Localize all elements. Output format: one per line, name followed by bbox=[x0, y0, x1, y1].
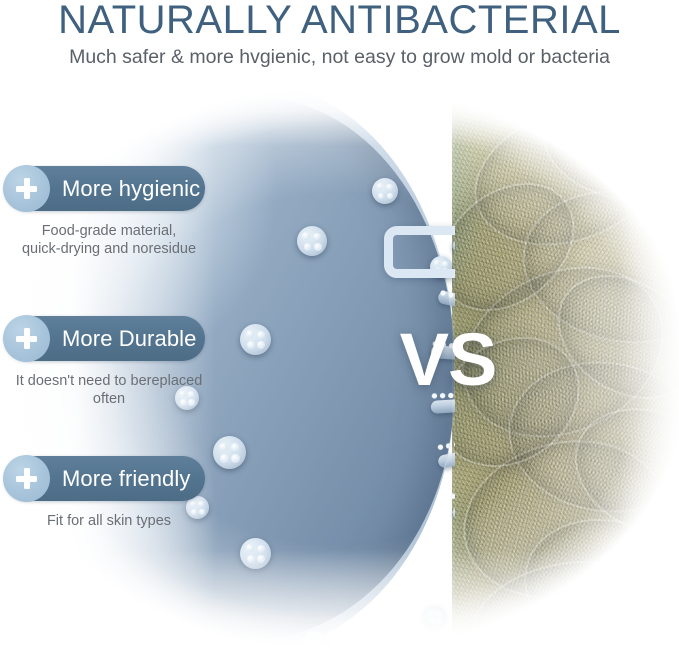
nub-dot bbox=[257, 331, 265, 339]
feature-label: More friendly bbox=[62, 466, 190, 492]
nub-dot bbox=[314, 243, 322, 251]
page-subtitle: Much safer & more hvgienic, not easy to … bbox=[0, 44, 679, 70]
nub-dot bbox=[302, 232, 310, 240]
nub-dot bbox=[231, 454, 240, 463]
product-infographic: NATURALLY ANTIBACTERIAL Much safer & mor… bbox=[0, 0, 679, 660]
feature-badge[interactable]: More friendly bbox=[4, 456, 205, 501]
nub-dot bbox=[378, 193, 385, 200]
feature-item-more-friendly[interactable]: More friendly Fit for all skin types bbox=[0, 456, 230, 530]
stage-fade-right bbox=[619, 78, 679, 660]
plus-glyph bbox=[16, 468, 37, 489]
feature-label: More Durable bbox=[62, 326, 196, 352]
plus-icon bbox=[3, 455, 50, 502]
feature-item-more-durable[interactable]: More Durable It doesn't need to bereplac… bbox=[0, 316, 230, 408]
scrubber-suction-nub bbox=[240, 324, 271, 355]
nub-dot bbox=[386, 184, 393, 191]
nub-dot bbox=[247, 341, 255, 349]
plus-icon bbox=[3, 315, 50, 362]
nub-dot bbox=[257, 341, 265, 349]
vs-label: VS bbox=[393, 323, 503, 397]
nub-dot bbox=[304, 243, 312, 251]
nub-dot bbox=[387, 193, 394, 200]
header: NATURALLY ANTIBACTERIAL Much safer & mor… bbox=[0, 0, 679, 78]
nub-dot bbox=[246, 330, 254, 338]
feature-caption: Food-grade material, quick-drying and no… bbox=[0, 222, 218, 258]
feature-caption: Fit for all skin types bbox=[0, 512, 218, 530]
scrubber-strap-loop bbox=[384, 226, 455, 278]
nub-dot bbox=[231, 443, 240, 452]
plus-glyph bbox=[16, 328, 37, 349]
plus-glyph bbox=[16, 178, 37, 199]
scrubber-suction-nub bbox=[372, 178, 398, 204]
feature-badge[interactable]: More Durable bbox=[4, 316, 205, 361]
scrubber-suction-nub bbox=[297, 226, 327, 256]
page-title: NATURALLY ANTIBACTERIAL bbox=[0, 0, 679, 42]
plus-icon bbox=[3, 165, 50, 212]
feature-caption: It doesn't need to bereplaced often bbox=[0, 372, 218, 408]
feature-list: More hygienic Food-grade material, quick… bbox=[0, 78, 230, 660]
feature-label: More hygienic bbox=[62, 176, 200, 202]
nub-dot bbox=[377, 183, 384, 190]
nub-dot bbox=[313, 233, 321, 241]
feature-badge[interactable]: More hygienic bbox=[4, 166, 205, 211]
feature-item-more-hygienic[interactable]: More hygienic Food-grade material, quick… bbox=[0, 166, 230, 258]
